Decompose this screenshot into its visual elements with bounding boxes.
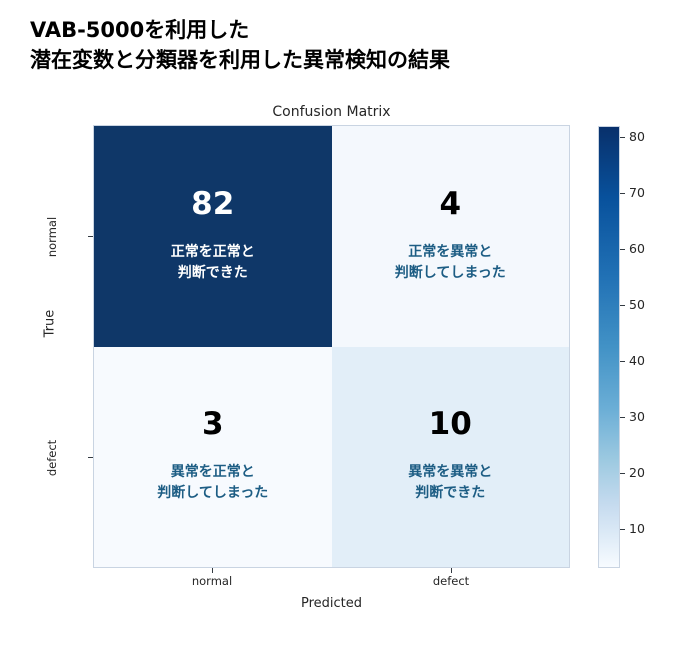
matrix-cell-true-defect-pred-defect: 10 異常を異常と 判断できた <box>332 347 570 568</box>
cell-count: 82 <box>191 189 234 220</box>
colorbar-tick-mark-40 <box>620 361 625 362</box>
matrix-cell-true-normal-pred-normal: 82 正常を正常と 判断できた <box>94 126 332 347</box>
confusion-matrix-grid: 82 正常を正常と 判断できた 4 正常を異常と 判断してしまった 3 異常を正… <box>93 125 570 568</box>
colorbar-tick-mark-70 <box>620 193 625 194</box>
matrix-cell-true-normal-pred-defect: 4 正常を異常と 判断してしまった <box>332 126 570 347</box>
colorbar-tick-label-80: 80 <box>629 131 645 144</box>
colorbar-tick-label-60: 60 <box>629 243 645 256</box>
x-axis-tick-label-defect: defect <box>391 574 511 588</box>
colorbar-tick-mark-80 <box>620 137 625 138</box>
colorbar-tick-label-20: 20 <box>629 467 645 480</box>
chart-title: Confusion Matrix <box>93 104 570 120</box>
colorbar-tick-mark-10 <box>620 529 625 530</box>
x-axis-tick-label-normal: normal <box>152 574 272 588</box>
colorbar-tick-label-50: 50 <box>629 299 645 312</box>
page-title-line-1: VAB-5000を利用した <box>30 16 650 46</box>
page-title-line-2: 潜在変数と分類器を利用した異常検知の結果 <box>30 46 650 76</box>
colorbar-tick-mark-20 <box>620 473 625 474</box>
colorbar-tick-label-30: 30 <box>629 411 645 424</box>
x-axis-tick-mark-defect <box>451 568 452 573</box>
y-axis-tick-label-normal: normal <box>45 192 59 282</box>
cell-count: 4 <box>439 189 461 220</box>
page-title: VAB-5000を利用した 潜在変数と分類器を利用した異常検知の結果 <box>30 16 650 76</box>
cell-description: 異常を正常と 判断してしまった <box>157 462 268 504</box>
colorbar-tick-mark-50 <box>620 305 625 306</box>
x-axis-label: Predicted <box>93 596 570 611</box>
cell-description: 異常を異常と 判断できた <box>408 462 492 504</box>
cell-count: 3 <box>202 409 224 440</box>
colorbar-tick-label-70: 70 <box>629 187 645 200</box>
x-axis-tick-mark-normal <box>212 568 213 573</box>
colorbar-tick-mark-30 <box>620 417 625 418</box>
cell-description: 正常を正常と 判断できた <box>171 242 255 284</box>
colorbar <box>598 126 620 568</box>
colorbar-tick-mark-60 <box>620 249 625 250</box>
confusion-matrix-figure: Confusion Matrix True normal defect 82 正… <box>0 88 678 646</box>
cell-description: 正常を異常と 判断してしまった <box>395 242 506 284</box>
matrix-cell-true-defect-pred-normal: 3 異常を正常と 判断してしまった <box>94 347 332 568</box>
colorbar-tick-label-40: 40 <box>629 355 645 368</box>
colorbar-tick-label-10: 10 <box>629 523 645 536</box>
cell-count: 10 <box>429 409 472 440</box>
y-axis-tick-label-defect: defect <box>45 413 59 503</box>
